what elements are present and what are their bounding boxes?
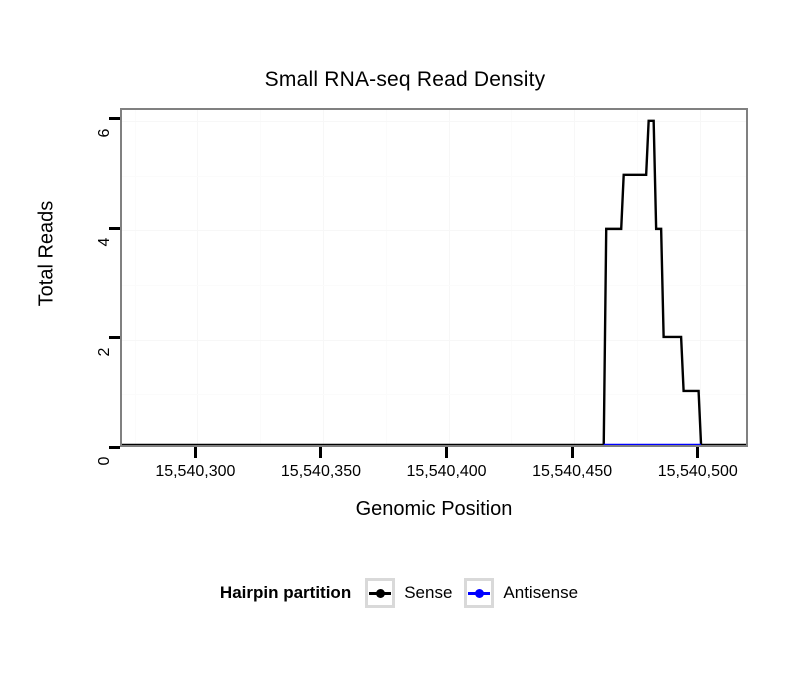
x-tick-mark	[571, 447, 574, 458]
series-line-sense	[122, 121, 746, 445]
legend-items: SenseAntisense	[365, 578, 590, 608]
y-tick-label: 4	[96, 229, 114, 255]
y-axis-ticks: 0246	[0, 108, 120, 447]
x-tick-mark	[696, 447, 699, 458]
y-tick-label: 6	[96, 120, 114, 146]
legend-key-sense	[365, 578, 395, 608]
x-tick-mark	[445, 447, 448, 458]
x-tick-label: 15,540,450	[512, 463, 632, 481]
x-tick-label: 15,540,400	[387, 463, 507, 481]
legend-label: Antisense	[503, 583, 578, 603]
legend-title: Hairpin partition	[220, 583, 351, 603]
legend: Hairpin partition SenseAntisense	[0, 578, 810, 608]
x-tick-label: 15,540,350	[261, 463, 381, 481]
legend-point-icon	[475, 589, 484, 598]
chart-title: Small RNA-seq Read Density	[0, 68, 810, 92]
legend-point-icon	[376, 589, 385, 598]
plot-panel	[120, 108, 748, 447]
x-tick-mark	[319, 447, 322, 458]
y-tick-label: 2	[96, 339, 114, 365]
x-tick-label: 15,540,300	[135, 463, 255, 481]
legend-item-antisense[interactable]: Antisense	[464, 578, 578, 608]
y-tick-label: 0	[96, 448, 114, 474]
plot-series-area	[122, 110, 746, 445]
x-axis-title: Genomic Position	[120, 498, 748, 521]
x-axis-ticks: 15,540,30015,540,35015,540,40015,540,450…	[120, 447, 748, 502]
legend-key-antisense	[464, 578, 494, 608]
x-tick-mark	[194, 447, 197, 458]
x-tick-label: 15,540,500	[638, 463, 758, 481]
legend-label: Sense	[404, 583, 452, 603]
chart-root: Small RNA-seq Read Density Total Reads 0…	[0, 0, 810, 690]
legend-item-sense[interactable]: Sense	[365, 578, 452, 608]
